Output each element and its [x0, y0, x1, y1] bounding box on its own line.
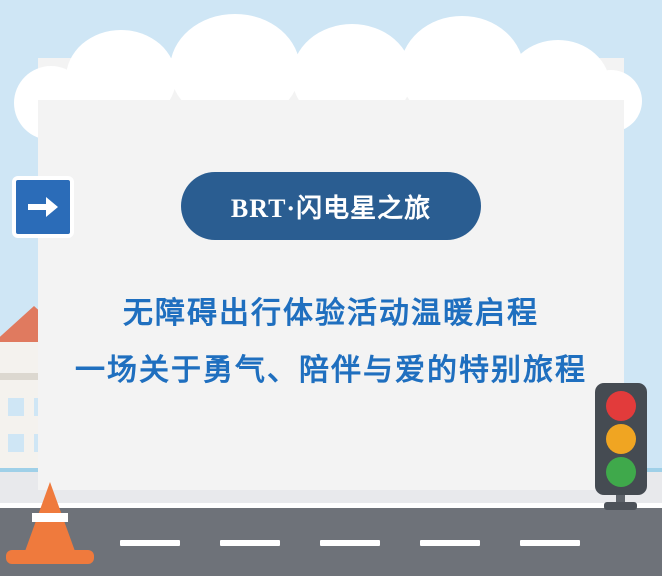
road-dash [420, 540, 480, 546]
right-arrow-sign-icon [12, 176, 74, 238]
headline-line-1: 无障碍出行体验活动温暖启程 [0, 288, 662, 332]
road-dash [320, 540, 380, 546]
road-dash [520, 540, 580, 546]
road-dash [120, 540, 180, 546]
traffic-light-red-lamp [606, 391, 636, 421]
poster-image: BRT·闪电星之旅 无障碍出行体验活动温暖启程 一场关于勇气、陪伴与爱的特别旅程 [0, 0, 662, 576]
traffic-light-yellow-lamp [606, 424, 636, 454]
road-edge-line [0, 503, 662, 508]
traffic-light-green-lamp [606, 457, 636, 487]
road-dash [220, 540, 280, 546]
title-badge-label: BRT·闪电星之旅 [231, 188, 431, 225]
headline-line-2: 一场关于勇气、陪伴与爱的特别旅程 [0, 345, 662, 389]
title-badge: BRT·闪电星之旅 [181, 172, 481, 240]
